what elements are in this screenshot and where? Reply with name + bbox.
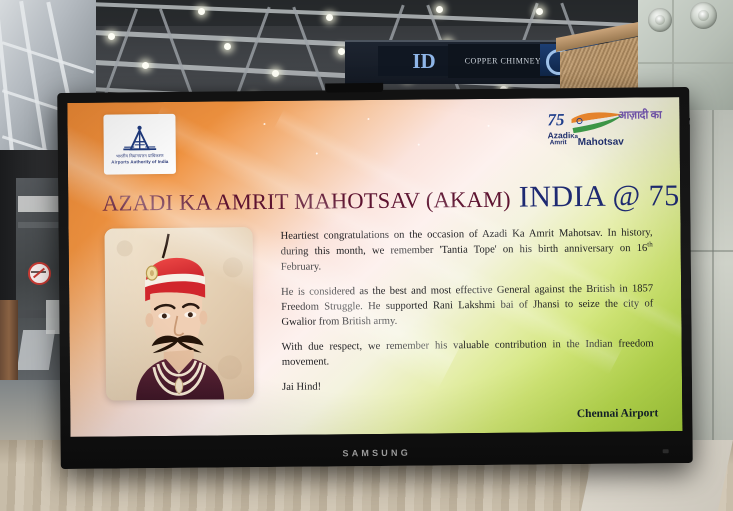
ceiling-light <box>142 62 149 69</box>
wall-decor-disc <box>648 8 672 32</box>
airport-credit: Chennai Airport <box>577 407 659 420</box>
akam-hindi-label: आज़ादी का <box>618 107 661 122</box>
photo-scene: ID COPPER CHIMNEY <box>0 0 733 511</box>
aai-logo: भारतीय विमानपत्तन प्राधिकरण Airports Aut… <box>103 114 176 175</box>
aai-english-label: Airports Authority of India <box>111 158 168 164</box>
ceiling-light <box>338 48 345 55</box>
ceiling-light <box>224 43 231 50</box>
screen-sparkle <box>264 123 266 125</box>
screen-sparkle <box>367 118 369 120</box>
tv-top-sensor <box>325 83 383 93</box>
ceiling-light <box>108 33 115 40</box>
headline-blue: INDIA @ 75 <box>519 179 680 214</box>
portrait-illustration <box>105 227 255 400</box>
slide-body-copy: Heartiest congratulations on the occasio… <box>281 225 655 394</box>
paragraph-2: He is considered as the best and most ef… <box>281 281 653 330</box>
akam-amrit-label: Amrit <box>550 139 567 146</box>
ceiling-light <box>198 8 205 15</box>
paragraph-3: With due respect, we remember his valuab… <box>282 336 654 370</box>
akam-mahotsav-label: Mahotsav <box>578 137 624 148</box>
headline-maroon: AZADI KA AMRIT MAHOTSAV (AKAM) <box>102 187 511 216</box>
tv-bezel-inner: भारतीय विमानपत्तन प्राधिकरण Airports Aut… <box>67 97 682 437</box>
ceiling-light <box>536 8 543 15</box>
counter-desk <box>18 196 64 212</box>
shop-logo-text: ID <box>412 49 435 74</box>
akam-75-number: 75 <box>547 110 564 130</box>
paragraph-jai-hind: Jai Hind! <box>282 376 654 395</box>
wall-joint-line <box>638 62 733 64</box>
ceiling-light <box>326 14 333 21</box>
akam-slide: भारतीय विमानपत्तन प्राधिकरण Airports Aut… <box>67 97 682 437</box>
slide-headline: AZADI KA AMRIT MAHOTSAV (AKAM)INDIA @ 75 <box>102 179 658 218</box>
samsung-brand-logo: SAMSUNG <box>61 445 693 461</box>
aai-emblem-icon <box>123 125 157 152</box>
chair <box>17 330 55 370</box>
no-smoking-icon <box>28 262 51 285</box>
ceiling-light <box>272 70 279 77</box>
screen-sparkle <box>418 144 420 146</box>
wall-decor-disc <box>690 2 717 29</box>
ceiling-light <box>436 6 443 13</box>
counter-edge <box>18 222 64 228</box>
ir-receiver <box>663 449 669 453</box>
akam-logo: 75 AzadiKa Amrit Mahotsav आज़ादी का <box>543 105 662 162</box>
paragraph-1: Heartiest congratulations on the occasio… <box>281 225 653 274</box>
samsung-display[interactable]: भारतीय विमानपत्तन प्राधिकरण Airports Aut… <box>57 87 693 469</box>
screen-sparkle <box>488 125 490 127</box>
wall-joint-line <box>712 110 714 450</box>
tantia-tope-portrait <box>105 227 255 400</box>
screen-sparkle <box>316 153 318 155</box>
